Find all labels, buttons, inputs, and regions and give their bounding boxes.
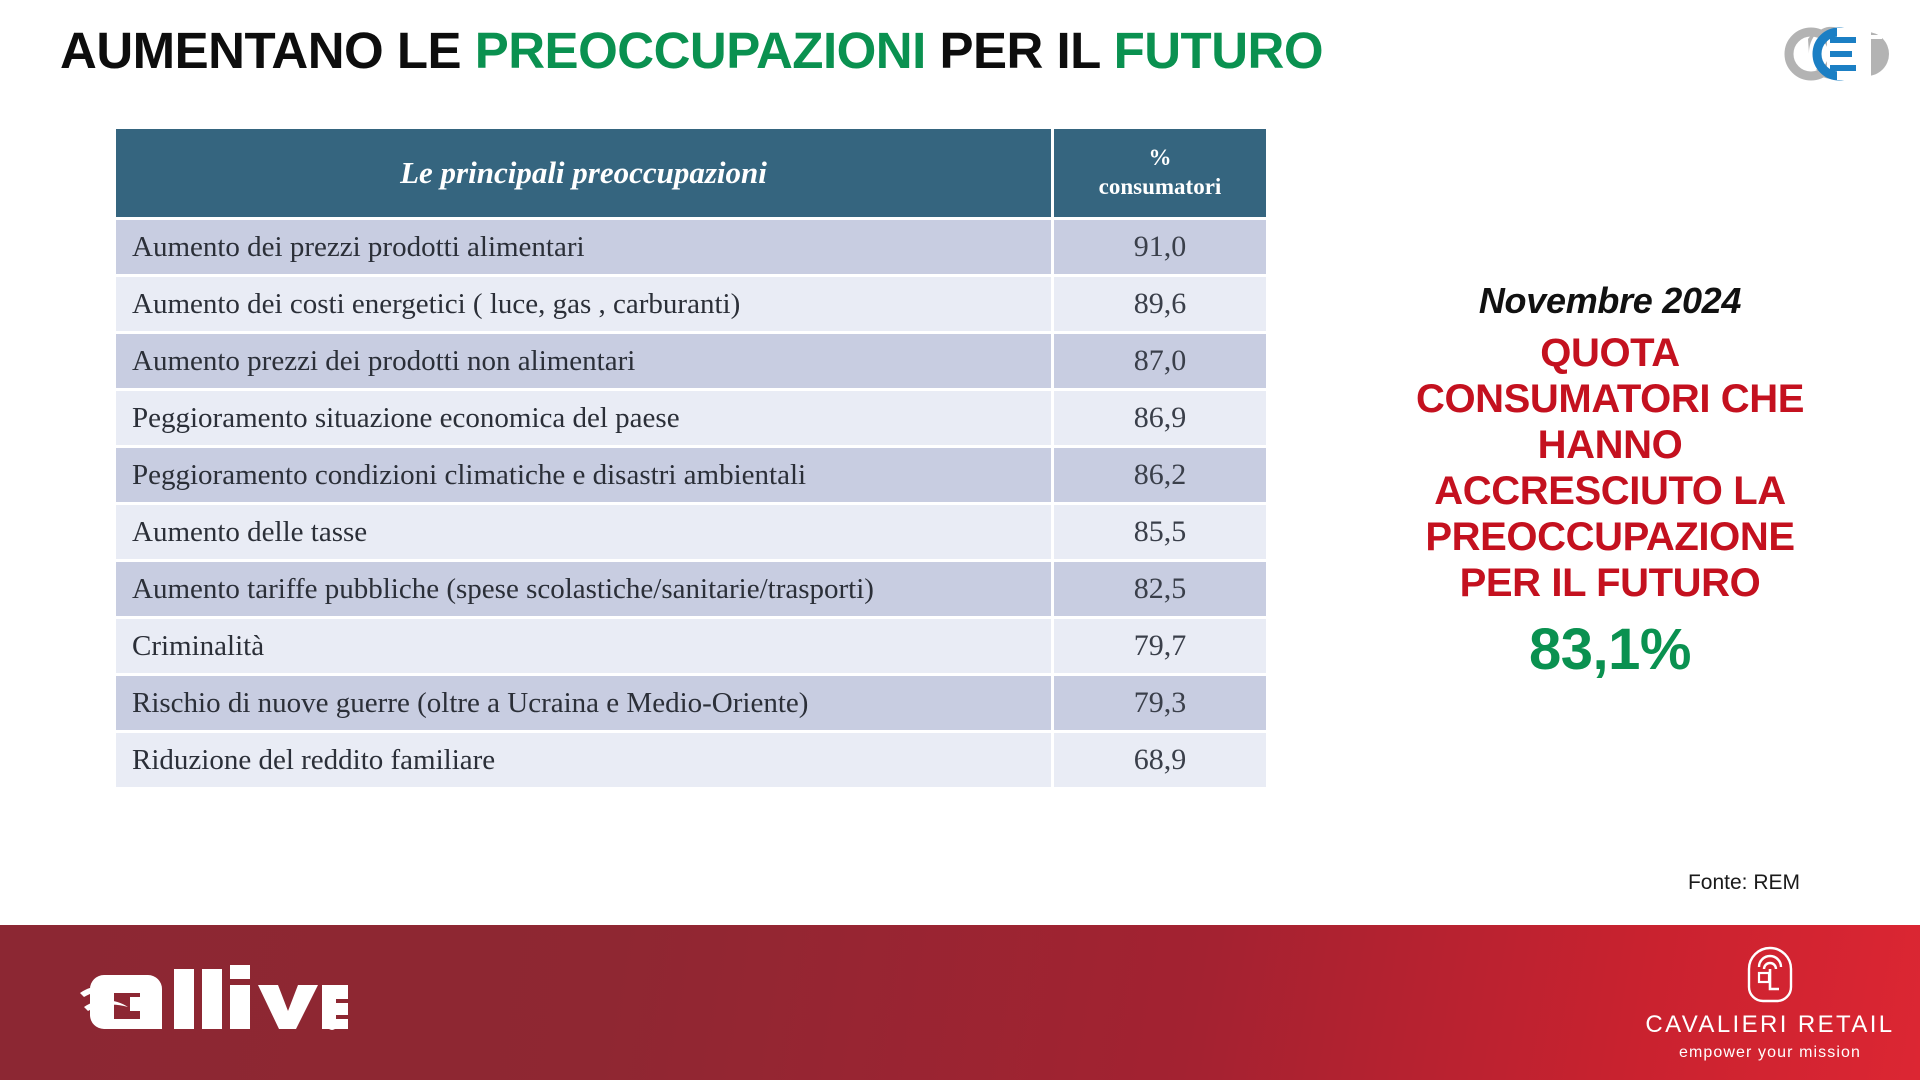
headline-percentage: 83,1%: [1340, 616, 1880, 683]
cavalieri-head-icon: [1741, 943, 1799, 1005]
table-header: Le principali preoccupazioni % consumato…: [116, 129, 1266, 217]
cet-logo-icon: [1775, 20, 1895, 88]
table-header-row: Le principali preoccupazioni % consumato…: [116, 129, 1266, 217]
row-label: Aumento delle tasse: [116, 505, 1051, 559]
page-title-part3: PER IL: [926, 22, 1114, 79]
statement-line: CONSUMATORI CHE: [1340, 376, 1880, 422]
table-row: Aumento delle tasse85,5: [116, 505, 1266, 559]
row-label: Aumento prezzi dei prodotti non alimenta…: [116, 334, 1051, 388]
gulliver-logo-icon: [78, 963, 348, 1033]
footer-bar: CAVALIERI RETAIL empower your mission: [0, 925, 1920, 1080]
statement-line: ACCRESCIUTO LA: [1340, 468, 1880, 514]
page-title-part4: FUTURO: [1114, 22, 1323, 79]
right-summary-panel: Novembre 2024 QUOTACONSUMATORI CHEHANNOA…: [1340, 280, 1880, 683]
column-header-percent-line2: consumatori: [1099, 174, 1222, 199]
source-note: Fonte: REM: [1340, 871, 1800, 895]
row-value: 87,0: [1051, 334, 1266, 388]
column-header-percent-line1: %: [1149, 145, 1172, 170]
table-row: Peggioramento situazione economica del p…: [116, 391, 1266, 445]
period-label: Novembre 2024: [1340, 280, 1880, 322]
row-value: 86,2: [1051, 448, 1266, 502]
statement-line: PER IL FUTURO: [1340, 560, 1880, 606]
row-label: Aumento dei costi energetici ( luce, gas…: [116, 277, 1051, 331]
table-row: Rischio di nuove guerre (oltre a Ucraina…: [116, 676, 1266, 730]
table-row: Aumento tariffe pubbliche (spese scolast…: [116, 562, 1266, 616]
row-label: Aumento tariffe pubbliche (spese scolast…: [116, 562, 1051, 616]
row-label: Aumento dei prezzi prodotti alimentari: [116, 220, 1051, 274]
row-label: Rischio di nuove guerre (oltre a Ucraina…: [116, 676, 1051, 730]
cet-logo: [1775, 20, 1895, 88]
column-header-label: Le principali preoccupazioni: [116, 129, 1051, 217]
statement-line: HANNO: [1340, 422, 1880, 468]
gulliver-logo: [78, 963, 348, 1033]
row-label: Criminalità: [116, 619, 1051, 673]
preoccupazioni-table: Le principali preoccupazioni % consumato…: [116, 126, 1266, 790]
row-value: 68,9: [1051, 733, 1266, 787]
statement-line: QUOTA: [1340, 330, 1880, 376]
row-label: Peggioramento situazione economica del p…: [116, 391, 1051, 445]
table-row: Aumento prezzi dei prodotti non alimenta…: [116, 334, 1266, 388]
table-row: Aumento dei costi energetici ( luce, gas…: [116, 277, 1266, 331]
cavalieri-retail-name: CAVALIERI RETAIL: [1640, 1013, 1900, 1037]
table-row: Aumento dei prezzi prodotti alimentari91…: [116, 220, 1266, 274]
row-value: 85,5: [1051, 505, 1266, 559]
page-title: AUMENTANO LE PREOCCUPAZIONI PER IL FUTUR…: [60, 23, 1323, 79]
table-row: Criminalità79,7: [116, 619, 1266, 673]
statement-line: PREOCCUPAZIONE: [1340, 514, 1880, 560]
page-title-part1: AUMENTANO LE: [60, 22, 475, 79]
row-value: 79,3: [1051, 676, 1266, 730]
table-row: Peggioramento condizioni climatiche e di…: [116, 448, 1266, 502]
row-value: 86,9: [1051, 391, 1266, 445]
preoccupazioni-table-container: Le principali preoccupazioni % consumato…: [116, 126, 1266, 790]
page-title-part2: PREOCCUPAZIONI: [475, 22, 926, 79]
row-value: 91,0: [1051, 220, 1266, 274]
row-value: 89,6: [1051, 277, 1266, 331]
row-label: Peggioramento condizioni climatiche e di…: [116, 448, 1051, 502]
table-row: Riduzione del reddito familiare68,9: [116, 733, 1266, 787]
column-header-percent: % consumatori: [1051, 129, 1266, 217]
row-value: 79,7: [1051, 619, 1266, 673]
cavalieri-retail-tagline: empower your mission: [1640, 1044, 1900, 1062]
row-value: 82,5: [1051, 562, 1266, 616]
statement-text: QUOTACONSUMATORI CHEHANNOACCRESCIUTO LAP…: [1340, 330, 1880, 606]
table-body: Aumento dei prezzi prodotti alimentari91…: [116, 220, 1266, 787]
cavalieri-retail-logo: CAVALIERI RETAIL empower your mission: [1640, 943, 1900, 1062]
row-label: Riduzione del reddito familiare: [116, 733, 1051, 787]
